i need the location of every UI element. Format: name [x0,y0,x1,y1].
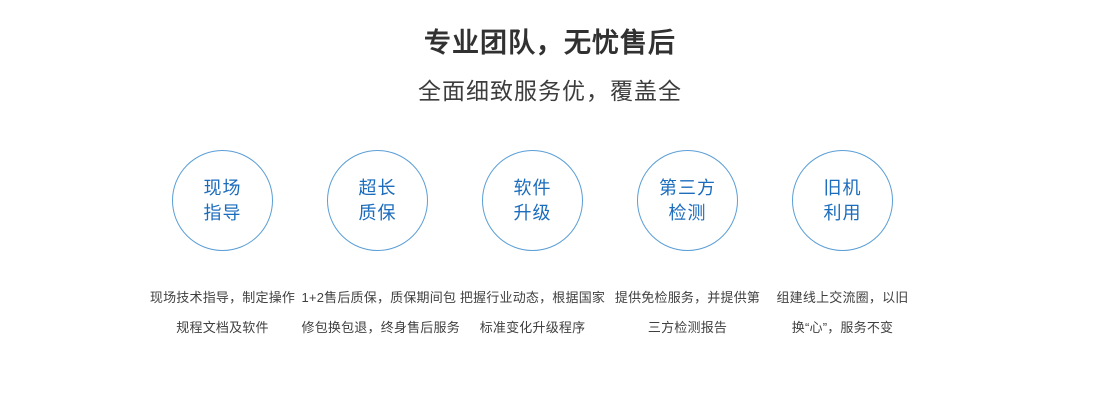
feature-item-software-upgrade[interactable]: 软件 升级 把握行业动态，根据国家 标准变化升级程序 [455,150,610,343]
feature-circle-label-line1: 旧机 [824,176,862,201]
feature-circle-software-upgrade[interactable]: 软件 升级 [482,150,583,251]
feature-caption-third-party-inspection: 提供免检服务，并提供第 三方检测报告 [612,283,764,343]
feature-caption-onsite-guidance: 现场技术指导，制定操作 规程文档及软件 [147,283,299,343]
feature-caption-extended-warranty: 1+2售后质保，质保期间包 修包换包退，终身售后服务 [302,283,454,343]
service-promo-section: 专业团队，无忧售后 全面细致服务优，覆盖全 现场 指导 现场技术指导，制定操作 … [0,0,1100,404]
feature-caption-line2: 三方检测报告 [612,313,764,343]
page-title: 专业团队，无忧售后 [0,26,1100,60]
feature-circle-label-line1: 第三方 [659,176,716,201]
feature-caption-line1: 现场技术指导，制定操作 [147,283,299,313]
feature-circle-label-line2: 利用 [824,201,862,226]
feature-item-old-machine-reuse[interactable]: 旧机 利用 组建线上交流圈，以旧 换“心”，服务不变 [765,150,920,343]
feature-caption-line2: 标准变化升级程序 [457,313,609,343]
feature-list: 现场 指导 现场技术指导，制定操作 规程文档及软件 超长 质保 1+2售后质保，… [145,150,955,343]
heading-block: 专业团队，无忧售后 全面细致服务优，覆盖全 [0,26,1100,106]
feature-caption-line1: 提供免检服务，并提供第 [612,283,764,313]
feature-caption-old-machine-reuse: 组建线上交流圈，以旧 换“心”，服务不变 [767,283,919,343]
feature-caption-line2: 修包换包退，终身售后服务 [302,313,454,343]
feature-caption-line1: 组建线上交流圈，以旧 [767,283,919,313]
feature-circle-third-party-inspection[interactable]: 第三方 检测 [637,150,738,251]
feature-item-third-party-inspection[interactable]: 第三方 检测 提供免检服务，并提供第 三方检测报告 [610,150,765,343]
feature-circle-label-line2: 质保 [359,201,397,226]
feature-circle-label-line2: 指导 [204,201,242,226]
feature-circle-extended-warranty[interactable]: 超长 质保 [327,150,428,251]
feature-item-extended-warranty[interactable]: 超长 质保 1+2售后质保，质保期间包 修包换包退，终身售后服务 [300,150,455,343]
feature-caption-line1: 1+2售后质保，质保期间包 [302,283,454,313]
feature-item-onsite-guidance[interactable]: 现场 指导 现场技术指导，制定操作 规程文档及软件 [145,150,300,343]
feature-caption-line2: 规程文档及软件 [147,313,299,343]
feature-caption-software-upgrade: 把握行业动态，根据国家 标准变化升级程序 [457,283,609,343]
feature-circle-onsite-guidance[interactable]: 现场 指导 [172,150,273,251]
feature-circle-label-line2: 升级 [514,201,552,226]
feature-circle-label-line1: 软件 [514,176,552,201]
feature-caption-line1: 把握行业动态，根据国家 [457,283,609,313]
feature-circle-old-machine-reuse[interactable]: 旧机 利用 [792,150,893,251]
feature-circle-label-line2: 检测 [669,201,707,226]
feature-circle-label-line1: 超长 [359,176,397,201]
feature-circle-label-line1: 现场 [204,176,242,201]
page-subtitle: 全面细致服务优，覆盖全 [0,76,1100,106]
feature-caption-line2: 换“心”，服务不变 [767,313,919,343]
